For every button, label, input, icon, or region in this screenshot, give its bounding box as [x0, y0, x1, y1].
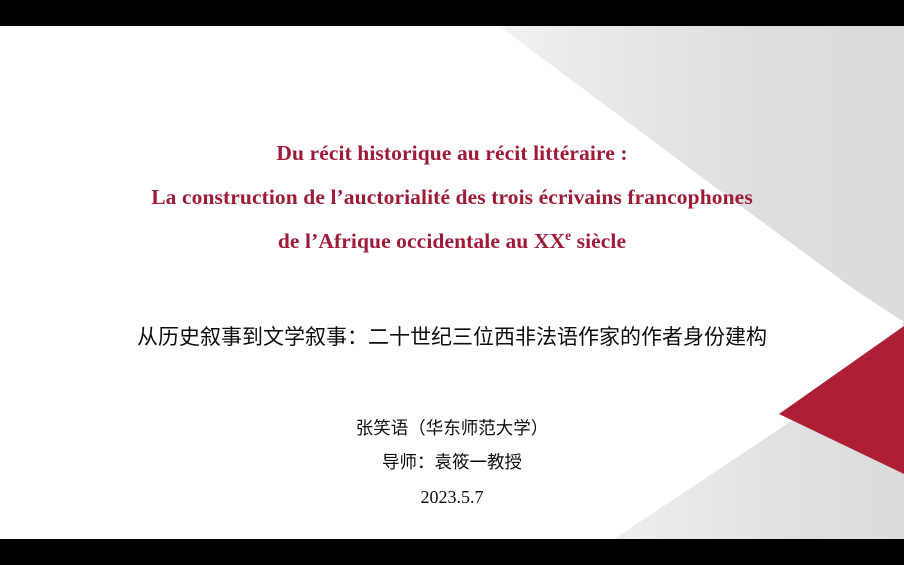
- slide-canvas: Du récit historique au récit littéraire …: [0, 26, 904, 539]
- slide-title-block: Du récit historique au récit littéraire …: [0, 131, 904, 263]
- title-line-3-tail: siècle: [571, 229, 626, 253]
- presentation-slide-frame: Du récit historique au récit littéraire …: [0, 0, 904, 565]
- advisor-line: 导师：袁筱一教授: [0, 446, 904, 480]
- letterbox-bar-top: [0, 0, 904, 26]
- title-line-3: de l’Afrique occidentale au XXe siècle: [0, 219, 904, 263]
- slide-text-layer: Du récit historique au récit littéraire …: [0, 26, 904, 539]
- author-block: 张笑语（华东师范大学） 导师：袁筱一教授 2023.5.7: [0, 412, 904, 514]
- presentation-date: 2023.5.7: [0, 480, 904, 514]
- title-line-2: La construction de l’auctorialité des tr…: [0, 175, 904, 219]
- author-name-affiliation: 张笑语（华东师范大学）: [0, 412, 904, 446]
- title-line-1: Du récit historique au récit littéraire …: [0, 131, 904, 175]
- subtitle-chinese: 从历史叙事到文学叙事：二十世纪三位西非法语作家的作者身份建构: [0, 322, 904, 352]
- letterbox-bar-bottom: [0, 539, 904, 565]
- title-line-3-head: de l’Afrique occidentale au XX: [278, 229, 565, 253]
